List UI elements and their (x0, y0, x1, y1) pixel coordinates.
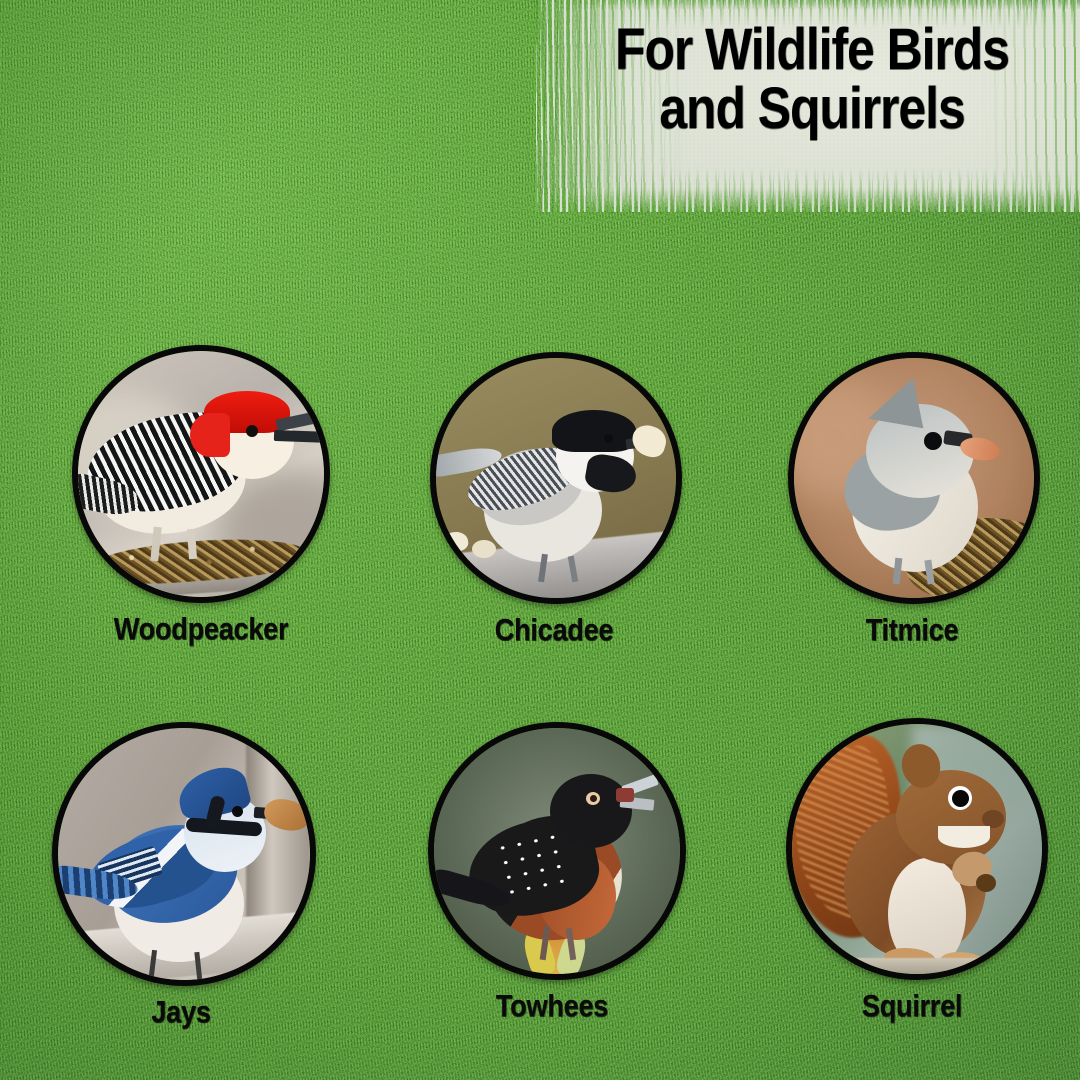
photo-titmouse (794, 358, 1034, 598)
bird-eye (232, 806, 243, 817)
headline-banner: For Wildlife Birds and Squirrels (536, 0, 1080, 212)
photo-chickadee (436, 358, 676, 598)
gallery-item-woodpecker[interactable]: Woodpeacker (72, 345, 330, 647)
caption-woodpecker: Woodpeacker (87, 611, 314, 647)
bird-black-cap (552, 410, 636, 452)
caption-titmouse: Titmice (803, 612, 1021, 648)
medallion-jay[interactable] (52, 722, 316, 986)
branch-perch (852, 958, 1032, 974)
poster-canvas: For Wildlife Birds and Squirrels (0, 0, 1080, 1080)
bird-mouth (616, 788, 634, 802)
caption-squirrel: Squirrel (801, 988, 1023, 1024)
medallion-chickadee[interactable] (430, 352, 682, 604)
photo-jay (58, 728, 310, 980)
photo-squirrel (792, 724, 1042, 974)
page-title: For Wildlife Birds and Squirrels (575, 20, 1050, 138)
squirrel-muzzle (938, 826, 990, 848)
headline-line-1: For Wildlife Birds (615, 17, 1009, 82)
gallery-item-towhee[interactable]: Towhees (428, 722, 676, 1024)
gallery-item-jay[interactable]: Jays (52, 722, 310, 1030)
squirrel-eye (952, 790, 969, 807)
nut-in-paws (976, 874, 996, 892)
photo-towhee (434, 728, 680, 974)
caption-chickadee: Chicadee (445, 612, 663, 648)
bird-beak-lower (274, 430, 324, 443)
medallion-squirrel[interactable] (786, 718, 1048, 980)
medallion-titmouse[interactable] (788, 352, 1040, 604)
bird-eye (604, 434, 613, 443)
gallery-item-titmouse[interactable]: Titmice (788, 352, 1036, 648)
peanut-piece (472, 540, 496, 558)
headline-line-2: and Squirrels (575, 79, 1050, 138)
medallion-towhee[interactable] (428, 722, 686, 980)
photo-woodpecker (78, 351, 324, 597)
bird-nape-red (190, 413, 230, 457)
bird-pupil (590, 795, 597, 802)
bird-eye (246, 425, 258, 437)
bird-eye (924, 432, 942, 450)
gallery-item-chickadee[interactable]: Chicadee (430, 352, 678, 648)
caption-towhee: Towhees (443, 988, 661, 1024)
gallery-item-squirrel[interactable]: Squirrel (786, 718, 1038, 1024)
medallion-woodpecker[interactable] (72, 345, 330, 603)
bird-head (550, 774, 632, 848)
caption-jay: Jays (67, 994, 294, 1030)
